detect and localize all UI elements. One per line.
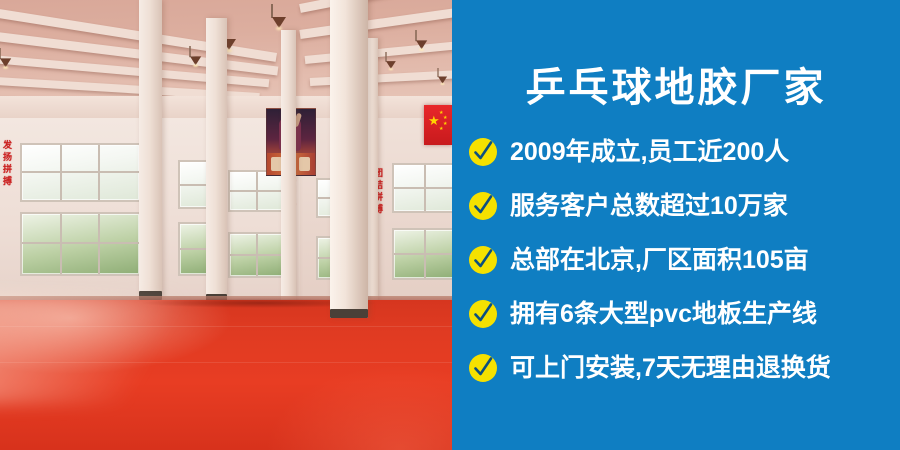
chinese-flag-icon: ★ ★ ★ ★ ★ xyxy=(424,105,452,145)
list-item-label: 服务客户总数超过10万家 xyxy=(510,194,788,219)
list-item-label: 可上门安装,7天无理由退换货 xyxy=(510,356,831,381)
window xyxy=(228,170,284,212)
check-circle-icon xyxy=(468,353,498,383)
feature-list: 2009年成立,员工近200人 服务客户总数超过10万家 总部在北京,厂区面积1… xyxy=(468,134,900,386)
promo-banner: 发扬拼搏 励志争先 奋发向上 团结拼搏 ★ ★ ★ ★ ★ xyxy=(0,0,900,450)
support-pillar xyxy=(206,18,227,303)
list-item: 可上门安装,7天无理由退换货 xyxy=(468,350,900,386)
list-item-label: 拥有6条大型pvc地板生产线 xyxy=(510,302,817,327)
wall-slogan: 发扬拼搏 xyxy=(1,140,12,188)
window xyxy=(20,212,141,276)
support-pillar-front xyxy=(330,0,368,318)
list-item: 2009年成立,员工近200人 xyxy=(468,134,900,170)
check-circle-icon xyxy=(468,299,498,329)
list-item: 拥有6条大型pvc地板生产线 xyxy=(468,296,900,332)
list-item: 总部在北京,厂区面积105亩 xyxy=(468,242,900,278)
check-circle-icon xyxy=(468,191,498,221)
red-pvc-floor xyxy=(0,300,452,450)
window xyxy=(392,228,452,280)
window xyxy=(228,232,284,278)
panel-title: 乒乓球地胶厂家 xyxy=(452,55,900,113)
support-pillar xyxy=(139,0,162,300)
check-circle-icon xyxy=(468,137,498,167)
feature-panel: 乒乓球地胶厂家 2009年成立,员工近200人 服务客户总数超过10万家 xyxy=(452,0,900,450)
support-pillar xyxy=(368,38,378,316)
window xyxy=(392,163,452,213)
window xyxy=(20,143,141,202)
list-item: 服务客户总数超过10万家 xyxy=(468,188,900,224)
gym-photo: 发扬拼搏 励志争先 奋发向上 团结拼搏 ★ ★ ★ ★ ★ xyxy=(0,0,452,450)
list-item-label: 总部在北京,厂区面积105亩 xyxy=(510,248,809,273)
check-circle-icon xyxy=(468,245,498,275)
list-item-label: 2009年成立,员工近200人 xyxy=(510,140,789,165)
support-pillar xyxy=(281,30,296,310)
